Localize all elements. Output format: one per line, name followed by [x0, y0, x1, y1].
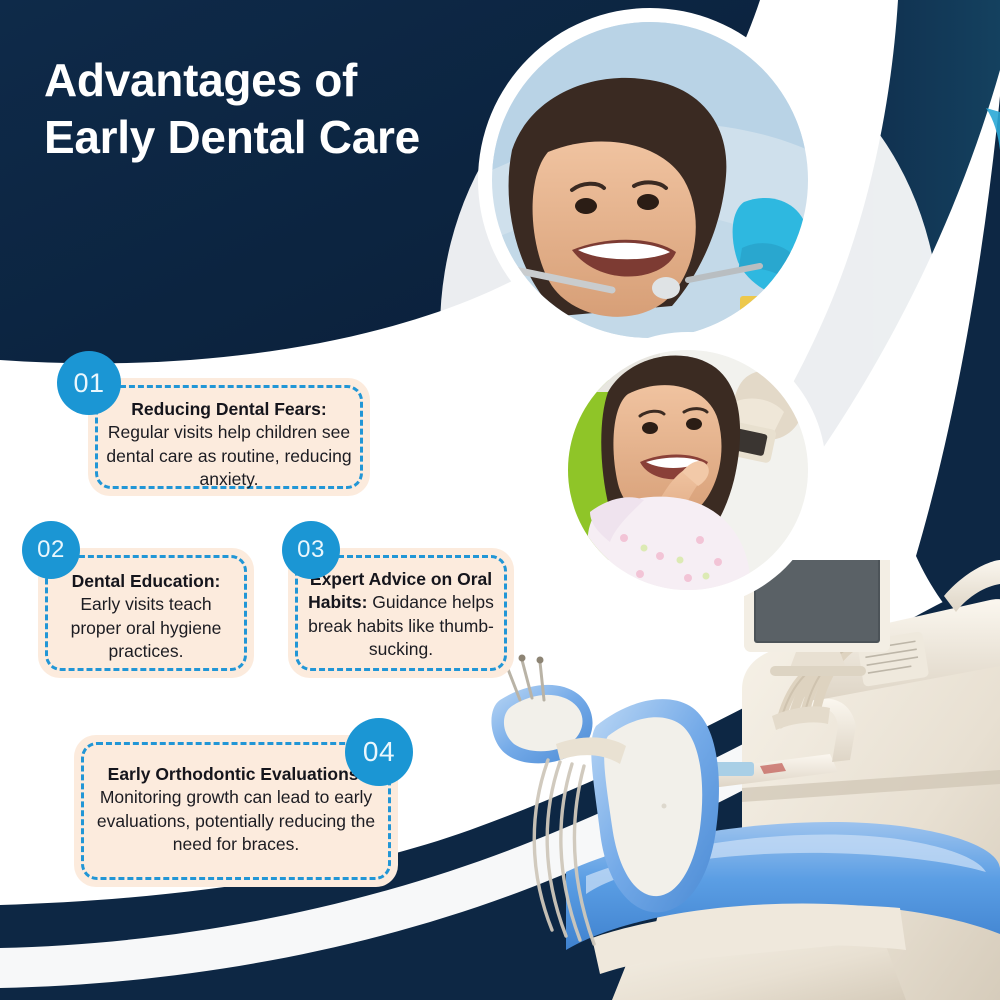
info-card-2-number-badge: 02: [22, 521, 80, 579]
info-card-4-heading: Early Orthodontic Evaluations:: [108, 764, 365, 784]
info-card-1: Reducing Dental Fears: Regular visits he…: [88, 378, 370, 496]
title-line-1: Advantages of: [44, 52, 474, 109]
info-card-1-body: Regular visits help children see dental …: [106, 422, 351, 489]
info-card-3-number-badge: 03: [282, 521, 340, 579]
info-card-2-body: Early visits teach proper oral hygiene p…: [71, 594, 222, 661]
info-card-1-heading: Reducing Dental Fears:: [131, 399, 326, 419]
info-card-1-number-badge: 01: [57, 351, 121, 415]
info-card-1-text: Reducing Dental Fears: Regular visits he…: [88, 378, 370, 491]
info-card-4-body: Monitoring growth can lead to early eval…: [97, 787, 375, 854]
info-card-2-heading: Dental Education:: [72, 571, 221, 591]
photo-circle-bottom: [550, 332, 826, 608]
infographic-poster: Advantages of Early Dental Care Reducing…: [0, 0, 1000, 1000]
title-line-2: Early Dental Care: [44, 109, 474, 166]
photo-circle-top: [478, 8, 822, 352]
page-title: Advantages of Early Dental Care: [44, 52, 474, 166]
info-card-4-number-badge: 04: [345, 718, 413, 786]
